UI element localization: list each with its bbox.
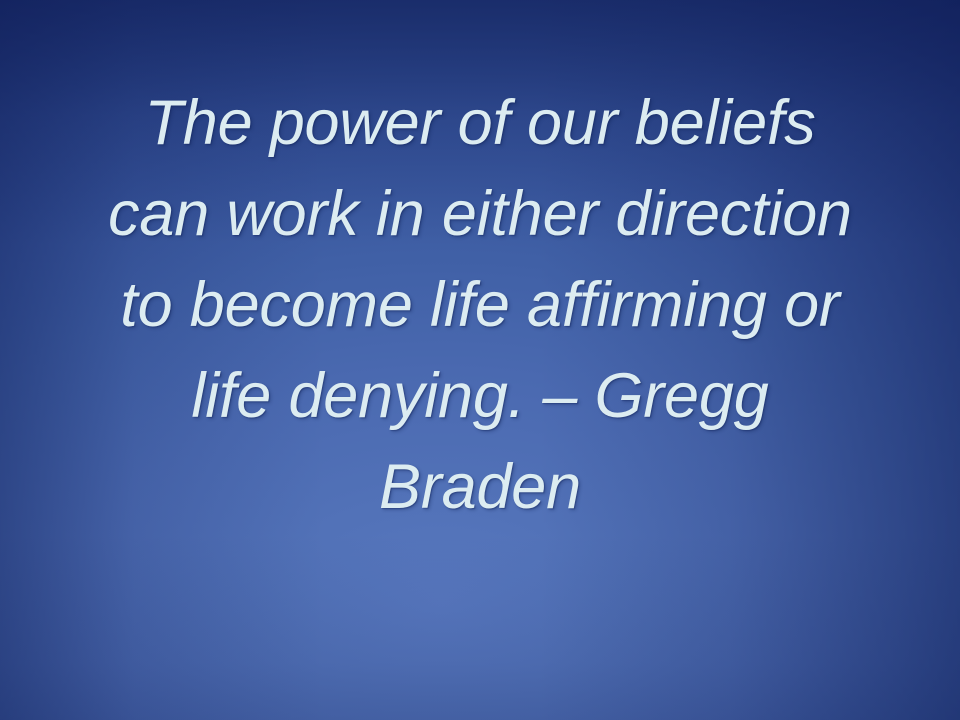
quote-text-block: The power of our beliefs can work in eit… (0, 78, 960, 533)
quote-line-4: life denying. – Gregg (56, 351, 904, 442)
quote-line-5-attribution: Braden (56, 442, 904, 533)
quote-line-3: to become life affirming or (56, 260, 904, 351)
quote-line-2: can work in either direction (56, 169, 904, 260)
quote-slide: The power of our beliefs can work in eit… (0, 0, 960, 720)
quote-line-1: The power of our beliefs (56, 78, 904, 169)
